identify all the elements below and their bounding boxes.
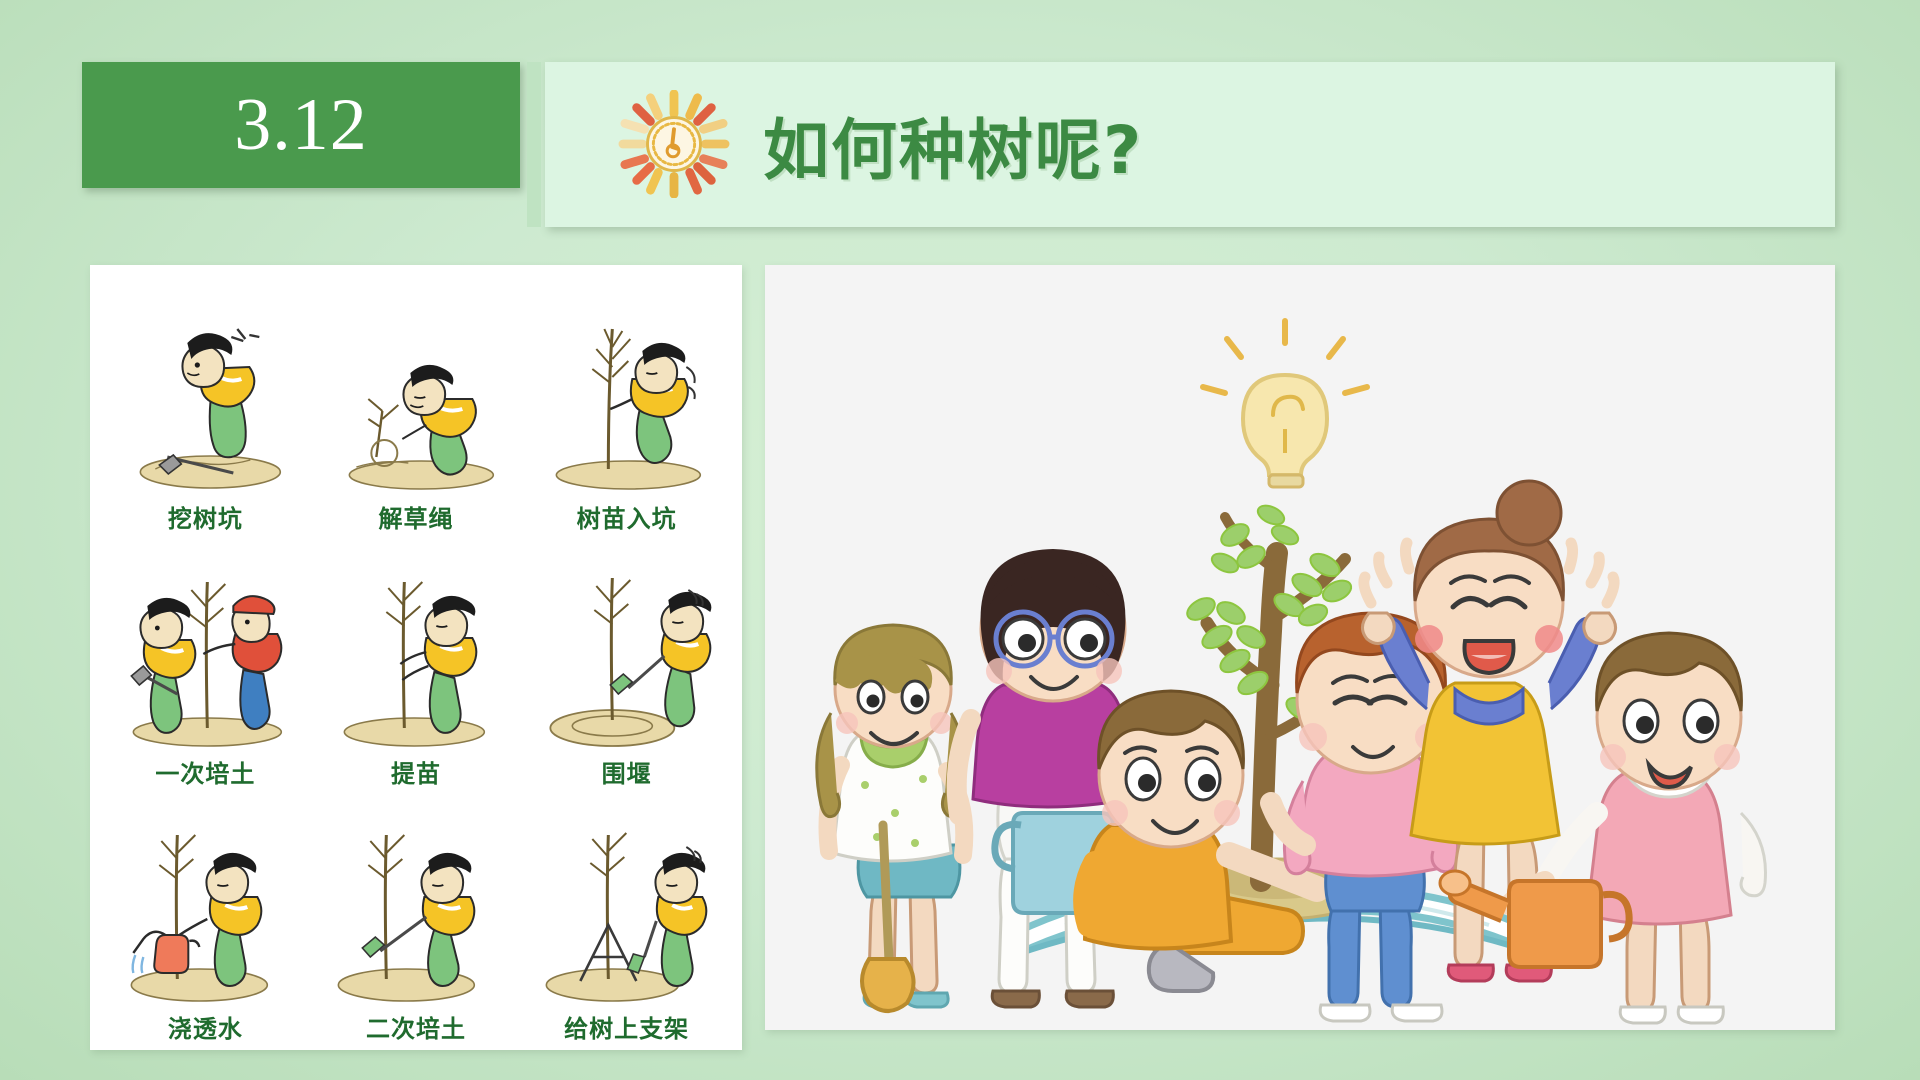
step-item-7: 浇透水	[100, 789, 311, 1044]
steps-grid: 挖树坑 解草绳	[100, 279, 732, 1044]
date-badge: 3.12	[82, 62, 520, 188]
step-label: 给树上支架	[564, 1009, 689, 1044]
sun-icon	[615, 90, 733, 198]
children-planting-tree-illustration	[765, 265, 1835, 1030]
step-item-5: 提苗	[311, 534, 522, 789]
tree-planting-steps-panel: 挖树坑 解草绳	[90, 265, 742, 1050]
children-planting-tree-panel	[765, 265, 1835, 1030]
sapling-into-hole-illustration	[521, 307, 732, 497]
step-label: 浇透水	[168, 1009, 243, 1044]
step-label: 围堰	[602, 754, 652, 789]
step-item-4: 一次培土	[100, 534, 311, 789]
step-label: 挖树坑	[168, 499, 243, 534]
step-label: 一次培土	[155, 754, 255, 789]
step-item-8: 二次培土	[311, 789, 522, 1044]
title-panel: 如何种树呢?	[545, 62, 1835, 227]
step-label: 解草绳	[378, 499, 453, 534]
light-bulb-idea-icon	[1203, 321, 1367, 487]
slide-header: 3.12	[0, 0, 1920, 240]
step-label: 二次培土	[366, 1009, 466, 1044]
step-item-2: 解草绳	[311, 279, 522, 534]
step-item-3: 树苗入坑	[521, 279, 732, 534]
thorough-watering-illustration	[100, 817, 311, 1007]
step-label: 提苗	[391, 754, 441, 789]
adding-tree-support-illustration	[521, 817, 732, 1007]
page-title: 如何种树呢?	[763, 97, 1143, 193]
step-item-9: 给树上支架	[521, 789, 732, 1044]
second-backfill-illustration	[311, 817, 522, 1007]
lifting-sapling-illustration	[311, 562, 522, 752]
girl-with-shovel	[817, 625, 965, 1011]
untying-straw-rope-illustration	[311, 307, 522, 497]
date-badge-label: 3.12	[234, 88, 368, 162]
first-backfill-illustration	[100, 562, 311, 752]
digging-hole-illustration	[100, 307, 311, 497]
step-label: 树苗入坑	[577, 499, 677, 534]
step-item-6: 围堰	[521, 534, 732, 789]
building-water-basin-illustration	[521, 562, 732, 752]
step-item-1: 挖树坑	[100, 279, 311, 534]
